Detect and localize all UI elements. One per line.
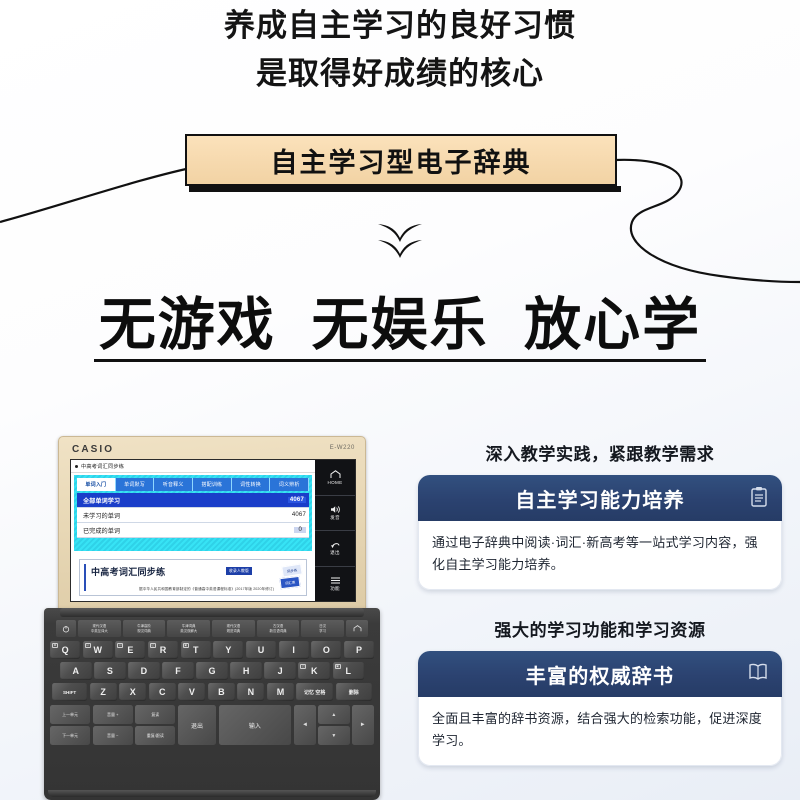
key-l[interactable]: ▣L	[333, 662, 365, 680]
key-label: 删除	[349, 689, 359, 696]
key-u[interactable]: U	[246, 641, 276, 659]
arrow-pad: ◄ ▲ ▼ ►	[294, 705, 374, 745]
keyboard-row-3: SHIFT Z X C V B N M 记忆 空格 删除	[52, 683, 372, 701]
key-label: 输入	[249, 721, 261, 730]
key-w[interactable]: ☑W	[83, 641, 113, 659]
feature-card-1-header: 自主学习能力培养	[418, 475, 782, 521]
key-n[interactable]: N	[237, 683, 264, 701]
key-volume-down[interactable]: 音量 −	[93, 726, 133, 745]
home-icon	[353, 625, 362, 632]
clipboard-icon	[750, 486, 768, 508]
key-delete[interactable]: 删除	[336, 683, 373, 701]
product-device: CASIO E-W220 中高考词汇同步练 单词入门 单词默写	[44, 436, 380, 800]
device-lid: CASIO E-W220 中高考词汇同步练 单词入门 单词默写	[58, 436, 366, 612]
lower-card-footnote: 据中华人民共和国教育部制定的《普通高中英语课程标准》(2017年版 2020年修…	[111, 587, 302, 592]
key-label: T	[193, 645, 199, 655]
key-enter[interactable]: 输入	[219, 705, 292, 745]
device-keyboard-base: 现代汉语 中英互译大 牛津高阶 现汉词典 牛津词典 英汉双解大 现代汉语 规范词…	[44, 608, 380, 800]
key-f[interactable]: F	[162, 662, 194, 680]
device-model: E-W220	[330, 445, 355, 451]
key-label: J	[278, 666, 283, 676]
unit-nav-group: 上一单元 下一单元	[50, 705, 90, 745]
keyboard-function-row: 现代汉语 中英互译大 牛津高阶 现汉词典 牛津词典 英汉双解大 现代汉语 规范词…	[56, 620, 368, 637]
key-d[interactable]: D	[128, 662, 160, 680]
feature-card-1: 自主学习能力培养 通过电子辞典中阅读·词汇·新高考等一站式学习内容，强化自主学习…	[418, 475, 782, 590]
key-a[interactable]: A	[60, 662, 92, 680]
banner-shadow	[189, 186, 621, 192]
key-sup-icon: ☑	[117, 643, 123, 649]
key-x[interactable]: X	[119, 683, 146, 701]
key-j[interactable]: J	[264, 662, 296, 680]
fn-key-line2: 学习	[319, 629, 326, 633]
feature-card-1-text: 通过电子辞典中阅读·词汇·新高考等一站式学习内容，强化自主学习能力培养。	[432, 532, 768, 576]
fn-key-line2: 中英互译大	[91, 629, 108, 633]
key-o[interactable]: O	[311, 641, 341, 659]
tab-tingyinshiyi[interactable]: 听音释义	[154, 478, 193, 491]
key-label: 重复/跟读	[147, 733, 164, 739]
key-k[interactable]: ◰K	[298, 662, 330, 680]
key-label: E	[127, 645, 133, 655]
key-e[interactable]: ☑E	[115, 641, 145, 659]
lower-card-body: 中高考词汇同步练 收录人教版 同步练 词汇表 据中华人民共和国教育部制定的《普通…	[91, 560, 306, 595]
slogan-underline	[94, 359, 706, 362]
key-label: K	[311, 666, 318, 676]
tab-label: 词义辨析	[279, 481, 300, 488]
sidebar-item-home[interactable]: HOME	[315, 460, 355, 496]
key-label: F	[175, 666, 181, 676]
key-repeat[interactable]: 复读	[135, 705, 175, 724]
section-title-1: 深入教学实践，紧跟教学需求	[418, 440, 782, 465]
sidebar-item-menu[interactable]: 功能	[315, 567, 355, 602]
headline-line-2: 是取得好成绩的核心	[0, 52, 800, 96]
key-space[interactable]: 记忆 空格	[296, 683, 333, 701]
key-next-unit[interactable]: 下一单元	[50, 726, 90, 745]
key-h[interactable]: H	[230, 662, 262, 680]
tab-label: 单词入门	[85, 481, 106, 488]
key-label: V	[189, 687, 195, 697]
device-hinge	[60, 608, 364, 617]
home-icon	[330, 470, 341, 479]
key-label: 记忆 空格	[304, 689, 325, 696]
screen-panel: 单词入门 单词默写 听音释义 搭配训练 词性转换	[74, 475, 312, 551]
list-item-label: 未学习的单词	[83, 511, 120, 520]
book-icon	[748, 662, 768, 682]
key-label: C	[159, 687, 166, 697]
sidebar-item-speaker[interactable]: 发音	[315, 496, 355, 532]
feature-card-1-body: 通过电子辞典中阅读·词汇·新高考等一站式学习内容，强化自主学习能力培养。	[418, 521, 782, 590]
slogan-text: 无游戏 无娱乐 放心学	[0, 292, 800, 358]
key-label: S	[107, 666, 113, 676]
key-arrow-left[interactable]: ◄	[294, 705, 316, 745]
fn-key-line2: 规范词典	[227, 629, 241, 633]
speaker-icon	[330, 505, 341, 514]
power-icon	[62, 625, 70, 633]
key-shift[interactable]: SHIFT	[52, 683, 87, 701]
menu-icon	[330, 576, 341, 585]
double-chevron-down-icon	[376, 222, 424, 260]
fn-key-dict-3[interactable]: 牛津词典 英汉双解大	[167, 620, 210, 637]
feature-card-2-header: 丰富的权威辞书	[418, 651, 782, 697]
key-label: O	[323, 645, 330, 655]
device-brand: CASIO	[72, 444, 114, 455]
key-label: 下一单元	[62, 733, 78, 739]
arrow-vertical-group: ▲ ▼	[318, 705, 349, 745]
tab-label: 听音释义	[163, 481, 184, 488]
banner-text: 自主学习型电子辞典	[271, 141, 532, 180]
keyboard-row-4: 上一单元 下一单元 音量 + 音量 − 复读 重复/跟读 退出 输入 ◄ ▲ ▼…	[50, 705, 374, 745]
fn-key-line2: 英汉双解大	[180, 629, 197, 633]
list-item-value: 4067	[292, 512, 306, 518]
key-label: 音量 −	[107, 733, 118, 739]
fn-key-dict-5[interactable]: 古汉语 新汉语词典	[257, 620, 300, 637]
sidebar-label: HOME	[328, 480, 343, 485]
feature-column: 深入教学实践，紧跟教学需求 自主学习能力培养 通过电子辞典中阅读·词汇·新高考等…	[418, 440, 782, 766]
tab-danciru-men[interactable]: 单词入门	[77, 478, 116, 491]
feature-card-2: 丰富的权威辞书 全面且丰富的辞书资源，结合强大的检索功能，促进深度学习。	[418, 651, 782, 766]
sidebar-item-back[interactable]: 退出	[315, 531, 355, 567]
key-label: ◄	[302, 722, 308, 728]
screen-content: 中高考词汇同步练 单词入门 单词默写 听音释义	[71, 460, 315, 601]
headline-line-1: 养成自主学习的良好习惯	[0, 4, 800, 48]
key-label: N	[248, 687, 255, 697]
key-label: 退出	[191, 721, 203, 730]
key-label: H	[243, 666, 250, 676]
fn-key-dict-4[interactable]: 现代汉语 规范词典	[212, 620, 255, 637]
key-exit[interactable]: 退出	[178, 705, 216, 745]
sidebar-label: 功能	[330, 586, 340, 592]
banner-box: 自主学习型电子辞典	[185, 134, 617, 186]
key-label: L	[346, 666, 352, 676]
key-p[interactable]: P	[344, 641, 374, 659]
key-label: G	[209, 666, 216, 676]
repeat-group: 复读 重复/跟读	[135, 705, 175, 745]
key-arrow-down[interactable]: ▼	[318, 726, 349, 745]
key-label: ▼	[331, 733, 336, 739]
sidebar-label: 退出	[330, 550, 340, 556]
list-item[interactable]: 已完成的单词 0	[77, 523, 309, 538]
key-label: P	[356, 645, 362, 655]
sidebar-label: 发音	[330, 515, 340, 521]
product-banner: 自主学习型电子辞典	[185, 134, 617, 190]
tab-label: 单词默写	[124, 481, 145, 488]
key-label: 音量 +	[107, 712, 118, 718]
tab-dapeixunlian[interactable]: 搭配训练	[193, 478, 232, 491]
key-label: X	[130, 687, 136, 697]
section-title-2: 强大的学习功能和学习资源	[418, 616, 782, 641]
key-label: ►	[360, 722, 366, 728]
tab-dancimoxie[interactable]: 单词默写	[116, 478, 155, 491]
key-label: SHIFT	[63, 690, 76, 695]
page-headline: 养成自主学习的良好习惯 是取得好成绩的核心	[0, 4, 800, 96]
key-i[interactable]: I	[279, 641, 309, 659]
keyboard-row-1: ⊟Q ☑W ☑E ◱R ▣T Y U I O P	[50, 641, 374, 659]
key-z[interactable]: Z	[90, 683, 117, 701]
key-speed[interactable]: 重复/跟读	[135, 726, 175, 745]
key-m[interactable]: M	[267, 683, 294, 701]
key-t[interactable]: ▣T	[181, 641, 211, 659]
tab-label: 搭配训练	[201, 481, 222, 488]
key-sup-icon: ☑	[85, 643, 91, 649]
key-g[interactable]: G	[196, 662, 228, 680]
fn-key-dict-1[interactable]: 现代汉语 中英互译大	[78, 620, 121, 637]
key-sup-icon: ◰	[300, 664, 306, 670]
feature-card-2-text: 全面且丰富的辞书资源，结合强大的检索功能，促进深度学习。	[432, 708, 768, 752]
key-sup-icon: ◱	[150, 643, 156, 649]
screen-tabs: 单词入门 单词默写 听音释义 搭配训练 词性转换	[77, 478, 309, 491]
key-label: B	[218, 687, 225, 697]
device-screen: 中高考词汇同步练 单词入门 单词默写 听音释义	[70, 459, 356, 602]
screen-breadcrumb: 中高考词汇同步练	[71, 460, 315, 473]
screen-lower-card: 中高考词汇同步练 收录人教版 同步练 词汇表 据中华人民共和国教育部制定的《普通…	[79, 559, 307, 596]
key-label: 复读	[151, 712, 159, 718]
key-label: D	[141, 666, 148, 676]
key-sup-icon: ▣	[183, 643, 189, 649]
feature-card-2-body: 全面且丰富的辞书资源，结合强大的检索功能，促进深度学习。	[418, 697, 782, 766]
list-item-value: 4067	[288, 497, 306, 503]
key-label: Y	[225, 645, 231, 655]
fn-key-dict-2[interactable]: 牛津高阶 现汉词典	[123, 620, 166, 637]
key-label: R	[160, 645, 167, 655]
key-arrow-up[interactable]: ▲	[318, 705, 349, 724]
key-prev-unit[interactable]: 上一单元	[50, 705, 90, 724]
list-item-label: 全部单词学习	[83, 496, 120, 505]
key-label: M	[277, 687, 285, 697]
key-y[interactable]: Y	[213, 641, 243, 659]
feature-card-1-heading: 自主学习能力培养	[515, 484, 685, 513]
fn-key-dict-6[interactable]: 日汉 学习	[301, 620, 344, 637]
main-slogan: 无游戏 无娱乐 放心学	[0, 292, 800, 362]
status-badge: 收录人教版	[226, 567, 252, 575]
key-sup-icon: ⊟	[52, 643, 58, 649]
key-label: ▲	[331, 712, 336, 718]
breadcrumb-label: 中高考词汇同步练	[81, 463, 124, 470]
feature-card-2-heading: 丰富的权威辞书	[526, 660, 674, 689]
key-label: Z	[100, 687, 106, 697]
tab-ciyibianxi[interactable]: 词义辨析	[270, 478, 309, 491]
key-label: A	[73, 666, 80, 676]
key-q[interactable]: ⊟Q	[50, 641, 80, 659]
volume-group: 音量 + 音量 −	[93, 705, 133, 745]
breadcrumb-dot-icon	[75, 465, 78, 468]
fn-key-line2: 新汉语词典	[270, 629, 287, 633]
tab-label: 词性转换	[240, 481, 261, 488]
key-label: I	[292, 645, 295, 655]
list-item[interactable]: 全部单词学习 4067	[77, 493, 309, 508]
key-label: U	[258, 645, 265, 655]
key-volume-up[interactable]: 音量 +	[93, 705, 133, 724]
list-item[interactable]: 未学习的单词 4067	[77, 508, 309, 523]
device-foot	[48, 790, 376, 797]
accent-bar	[84, 564, 86, 591]
list-item-label: 已完成的单词	[83, 526, 120, 535]
list-item-value: 0	[294, 527, 306, 533]
key-sup-icon: ▣	[335, 664, 341, 670]
key-r[interactable]: ◱R	[148, 641, 178, 659]
key-label: W	[93, 645, 102, 655]
fn-key-home[interactable]	[346, 620, 368, 637]
keyboard-row-2: A S D F G H J ◰K ▣L	[60, 662, 364, 680]
key-label: Q	[62, 645, 69, 655]
power-button[interactable]	[56, 620, 76, 637]
key-label: 上一单元	[62, 712, 78, 718]
tab-cixingzhuanhuan[interactable]: 词性转换	[232, 478, 271, 491]
fn-key-line2: 现汉词典	[137, 629, 151, 633]
key-b[interactable]: B	[208, 683, 235, 701]
key-s[interactable]: S	[94, 662, 126, 680]
screen-list: 全部单词学习 4067 未学习的单词 4067 已完成的单词 0	[77, 493, 309, 538]
back-arrow-icon	[330, 540, 341, 549]
key-c[interactable]: C	[149, 683, 176, 701]
screen-sidebar: HOME 发音 退出	[315, 460, 355, 601]
key-arrow-right[interactable]: ►	[352, 705, 374, 745]
key-v[interactable]: V	[178, 683, 205, 701]
